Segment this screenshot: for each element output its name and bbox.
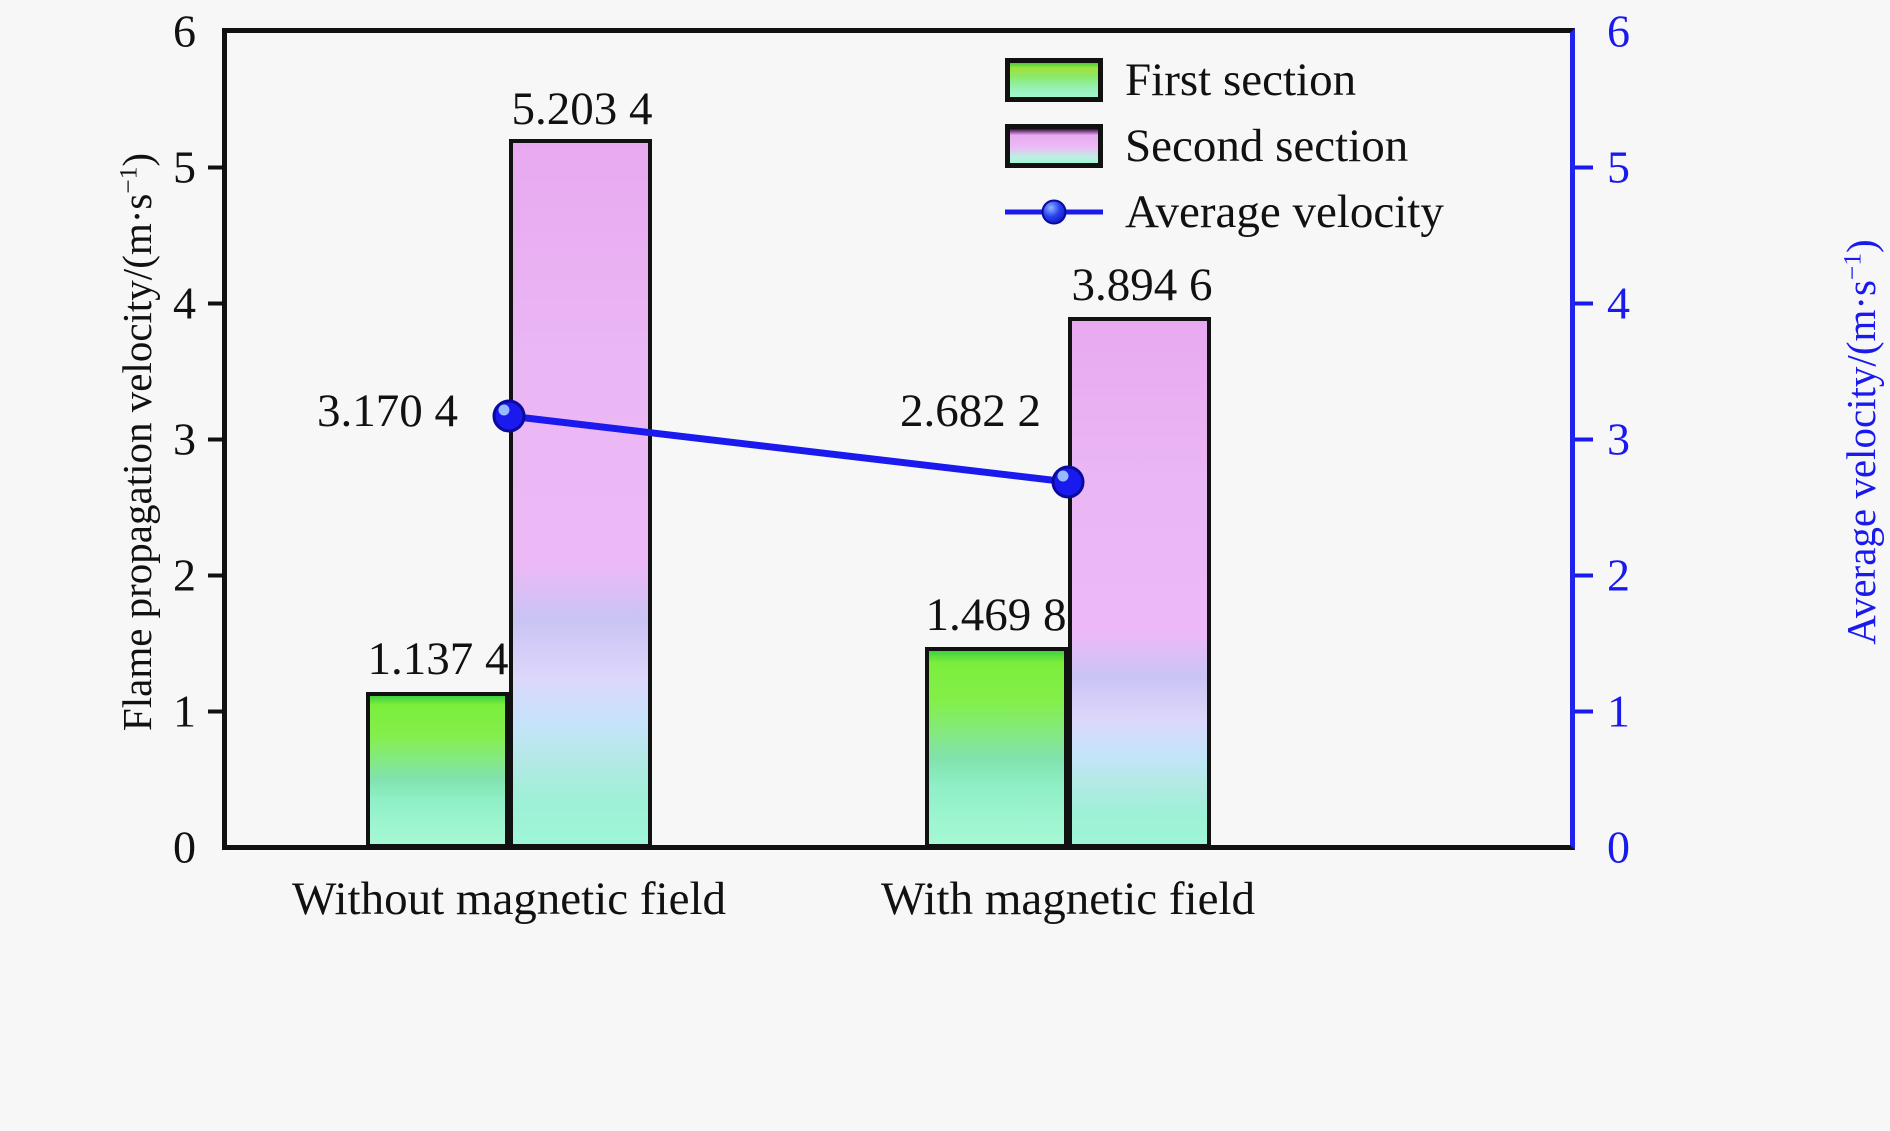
y-axis-right-tick-2: 2 <box>1607 549 1667 602</box>
bar-first-section-with-magnetic-field[interactable] <box>925 647 1068 848</box>
legend-item-first-section[interactable]: First section <box>1005 52 1444 108</box>
y-axis-left-tick-2: 2 <box>136 549 196 602</box>
y-axis-right-tick-4: 4 <box>1607 277 1667 330</box>
data-label-second-section-without-magnetic-field: 5.203 4 <box>512 82 653 136</box>
bar-first-section-without-magnetic-field[interactable] <box>366 692 509 848</box>
data-label-second-section-with-magnetic-field: 3.894 6 <box>1072 258 1213 312</box>
data-label-average-velocity-without-magnetic-field: 3.170 4 <box>317 384 458 438</box>
chart-figure: Flame propagation velocity/(m·s−1) Avera… <box>0 0 1890 1131</box>
y-axis-right-title-main: Average velocity/(m·s <box>1838 280 1884 645</box>
y-axis-right-title: Average velocity/(m·s−1) <box>1837 47 1885 837</box>
y-axis-right-tick-0: 0 <box>1607 821 1667 874</box>
legend-label-first-section: First section <box>1125 57 1356 104</box>
bar-second-section-with-magnetic-field[interactable] <box>1068 317 1211 848</box>
legend-swatch-second-section-icon <box>1005 124 1103 168</box>
x-axis-category-without-magnetic-field: Without magnetic field <box>292 872 726 926</box>
y-axis-left-tick-5: 5 <box>136 141 196 194</box>
y-axis-right-tick-1: 1 <box>1607 685 1667 738</box>
tick-text: 3 <box>173 414 196 465</box>
legend-label-second-section: Second section <box>1125 123 1408 170</box>
y-axis-right-title-tail: ) <box>1838 239 1884 253</box>
tick-text: 4 <box>173 278 196 329</box>
tick-text: 3 <box>1607 414 1630 465</box>
data-label-first-section-with-magnetic-field: 1.469 8 <box>926 588 1067 642</box>
y-axis-left-tick-6: 6 <box>136 5 196 58</box>
y-axis-left-tick-0: 0 <box>136 821 196 874</box>
data-label-average-velocity-with-magnetic-field: 2.682 2 <box>900 384 1041 438</box>
y-axis-left-tick-4: 4 <box>136 277 196 330</box>
tick-text: 2 <box>1607 550 1630 601</box>
x-axis-category-with-magnetic-field: With magnetic field <box>881 872 1255 926</box>
y-axis-left-tick-3: 3 <box>136 413 196 466</box>
tick-text: 5 <box>1607 142 1630 193</box>
y-axis-left-tick-1: 1 <box>136 685 196 738</box>
legend-sphere-marker-icon <box>1042 200 1067 225</box>
tick-text: 4 <box>1607 278 1630 329</box>
legend-swatch-first-section-icon <box>1005 58 1103 102</box>
tick-text: 2 <box>173 550 196 601</box>
legend-item-second-section[interactable]: Second section <box>1005 118 1444 174</box>
y-axis-right-tick-5: 5 <box>1607 141 1667 194</box>
data-label-first-section-without-magnetic-field: 1.137 4 <box>368 632 509 686</box>
tick-text: 1 <box>1607 686 1630 737</box>
legend-label-average-velocity: Average velocity <box>1125 189 1444 236</box>
tick-text: 5 <box>173 142 196 193</box>
y-axis-right-tick-3: 3 <box>1607 413 1667 466</box>
bar-second-section-without-magnetic-field[interactable] <box>509 139 652 848</box>
legend: First section Second section Average vel… <box>1005 52 1444 240</box>
tick-text: 1 <box>173 686 196 737</box>
legend-line-marker-icon <box>1005 190 1103 234</box>
y-axis-right-title-exponent: −1 <box>1838 253 1866 280</box>
y-axis-right-tick-6: 6 <box>1607 5 1667 58</box>
legend-item-average-velocity[interactable]: Average velocity <box>1005 184 1444 240</box>
